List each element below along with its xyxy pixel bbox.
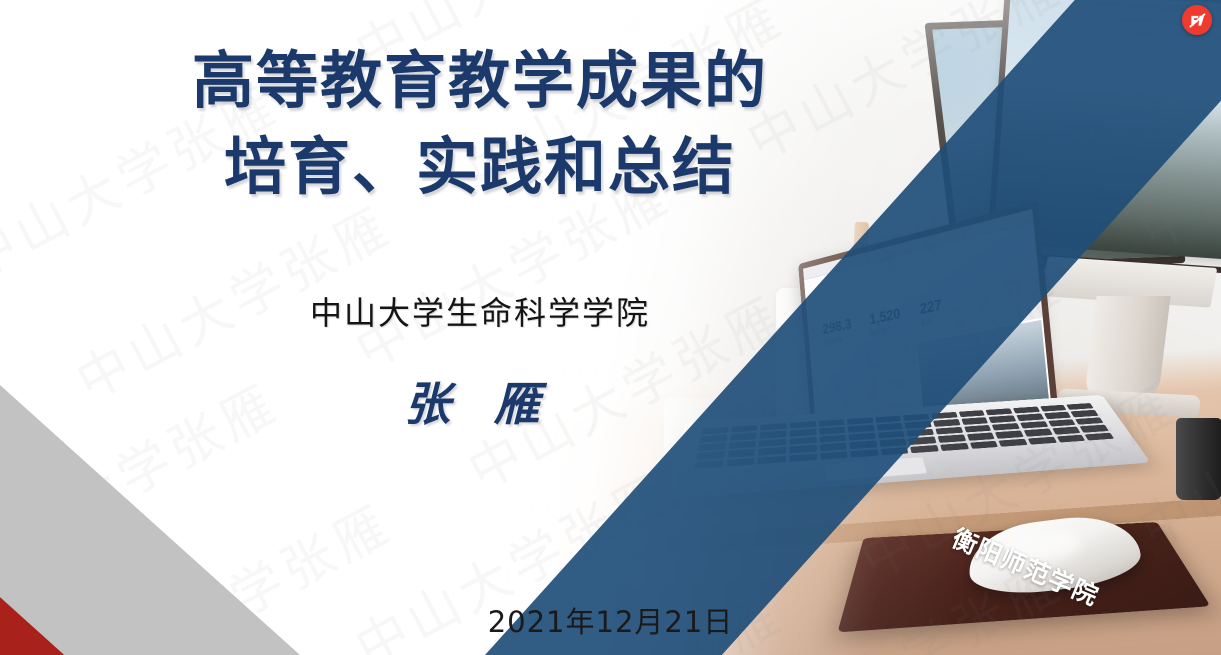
presenter-name: 张 雁: [60, 368, 900, 434]
affiliation-text: 中山大学生命科学学院: [60, 288, 900, 334]
slide-title-line-1: 高等教育教学成果的: [60, 38, 900, 124]
slide-title-line-2: 培育、实践和总结: [60, 124, 900, 210]
presentation-date: 2021年12月21日: [0, 599, 1221, 641]
presentation-slide: WORK HARD ANYWHERE 298.3 总访问量 1,520 活跃用户: [0, 0, 1221, 655]
no-record-icon[interactable]: [1182, 5, 1212, 35]
slide-title: 高等教育教学成果的 培育、实践和总结: [60, 38, 900, 209]
